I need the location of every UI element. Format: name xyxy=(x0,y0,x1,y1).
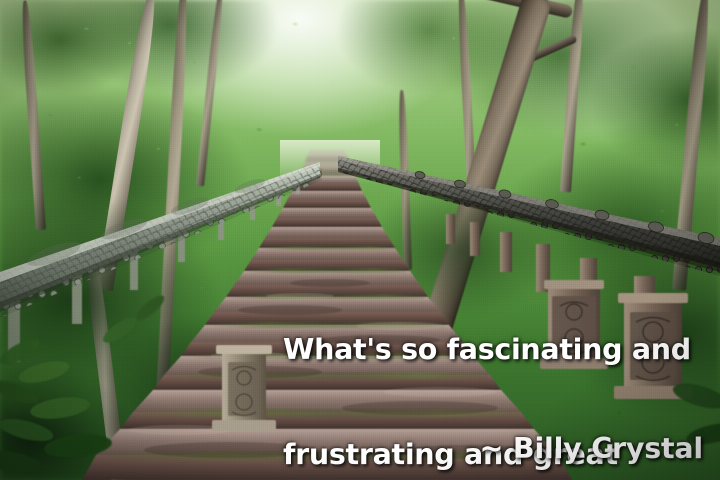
quote-attribution: ~ Billy Crystal xyxy=(283,432,703,466)
quote-image: What's so fascinating and frustrating an… xyxy=(0,0,720,480)
quote-line: What's so fascinating and xyxy=(283,332,703,367)
